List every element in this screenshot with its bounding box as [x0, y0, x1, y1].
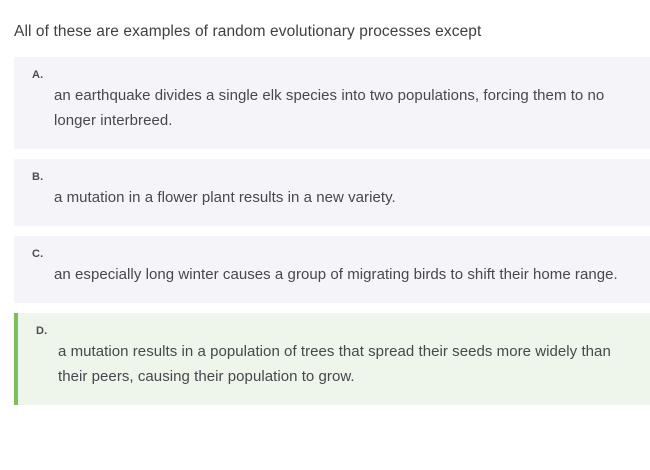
answer-option-b[interactable]: B. a mutation in a flower plant results …	[14, 159, 650, 226]
answer-options-list: A. an earthquake divides a single elk sp…	[0, 57, 650, 405]
option-text-a: an earthquake divides a single elk speci…	[14, 83, 628, 133]
option-text-b: a mutation in a flower plant results in …	[14, 185, 628, 210]
option-letter-d: D.	[18, 323, 628, 339]
option-letter-c: C.	[14, 246, 628, 262]
option-letter-b: B.	[14, 169, 628, 185]
option-text-c: an especially long winter causes a group…	[14, 262, 628, 287]
quiz-question-panel: All of these are examples of random evol…	[0, 0, 650, 470]
answer-option-d[interactable]: D. a mutation results in a population of…	[14, 313, 650, 405]
question-stem: All of these are examples of random evol…	[0, 0, 650, 42]
answer-option-c[interactable]: C. an especially long winter causes a gr…	[14, 236, 650, 303]
option-letter-a: A.	[14, 67, 628, 83]
answer-option-a[interactable]: A. an earthquake divides a single elk sp…	[14, 57, 650, 149]
option-text-d: a mutation results in a population of tr…	[18, 339, 628, 389]
